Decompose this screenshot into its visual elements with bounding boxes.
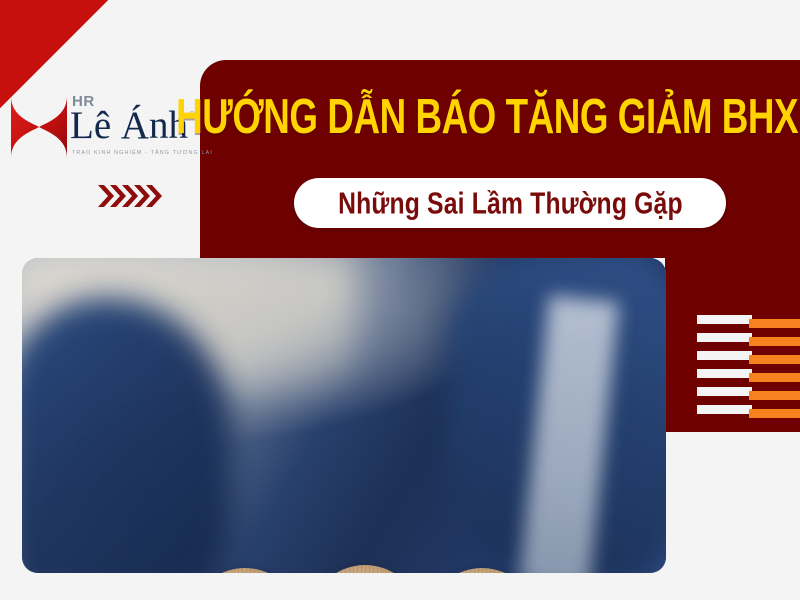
main-title: HƯỚNG DẪN BÁO TĂNG GIẢM BHXH xyxy=(200,84,800,150)
main-title-text: HƯỚNG DẪN BÁO TĂNG GIẢM BHXH xyxy=(176,90,800,145)
subtitle-pill: Những Sai Lầm Thường Gặp xyxy=(294,178,726,228)
brand-name: Lê Ánh xyxy=(70,106,188,145)
stripe-row xyxy=(697,405,800,421)
brand-logo[interactable]: HR Lê Ánh ® TRAO KINH NGHIỆM - TĂNG TƯƠN… xyxy=(4,88,194,173)
stripe-row xyxy=(697,351,800,367)
subtitle-text: Những Sai Lầm Thường Gặp xyxy=(338,185,683,222)
hero-photo: $ BÁO TĂNG BÁO GIẢM xyxy=(22,258,666,573)
stripe-row xyxy=(697,387,800,403)
leanh-logo-mark-icon xyxy=(8,94,70,160)
brand-tagline: TRAO KINH NGHIỆM - TĂNG TƯƠNG LAI xyxy=(72,150,213,156)
stripe-row xyxy=(697,333,800,349)
chevron-right-icon xyxy=(98,183,168,209)
poster-canvas: HR Lê Ánh ® TRAO KINH NGHIỆM - TĂNG TƯƠN… xyxy=(0,0,800,600)
chevron-arrows-decor xyxy=(98,183,168,209)
stripe-decor xyxy=(697,315,800,425)
stripe-row xyxy=(697,315,800,331)
stripe-row xyxy=(697,369,800,385)
